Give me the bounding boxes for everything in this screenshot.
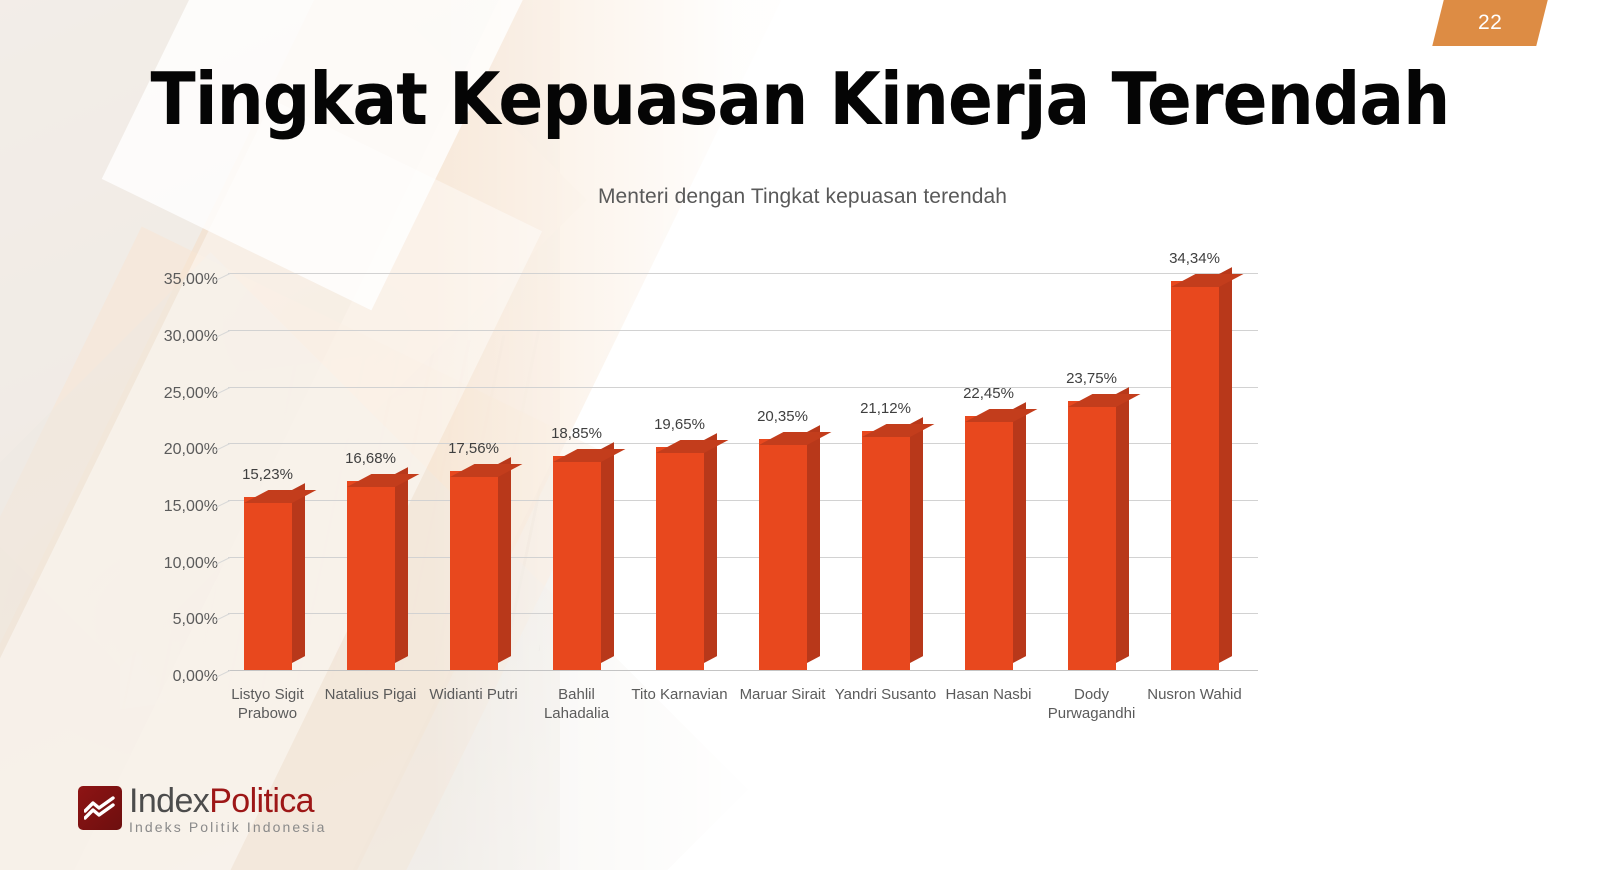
- y-axis-tick-label: 10,00%: [164, 555, 218, 573]
- y-axis-tick-labels: 0,00%5,00%10,00%15,00%20,00%25,00%30,00%…: [122, 245, 218, 670]
- bar-top-face: [347, 474, 419, 487]
- bar-front-face: [965, 416, 1013, 670]
- bar-top-face: [1171, 274, 1243, 287]
- bar-top-face: [1068, 394, 1140, 407]
- bar-body: [450, 471, 498, 670]
- bar-side-face: [1219, 267, 1232, 663]
- bar-side-face: [807, 425, 820, 663]
- page-number-badge: 22: [1432, 0, 1547, 46]
- chart-plot-area: 0,00%5,00%10,00%15,00%20,00%25,00%30,00%…: [228, 245, 1258, 670]
- bar-chart: Menteri dengan Tingkat kepuasan terendah…: [120, 185, 1300, 755]
- y-axis-tick-label: 20,00%: [164, 441, 218, 459]
- bar-front-face: [244, 497, 292, 670]
- bar-body: [553, 456, 601, 670]
- x-axis-category-label: Listyo Sigit Prabowo: [216, 685, 319, 723]
- bar-front-face: [450, 471, 498, 670]
- chart-bar[interactable]: 20,35%: [759, 245, 807, 670]
- x-axis-category-label: Bahlil Lahadalia: [525, 685, 628, 723]
- bar-value-label: 17,56%: [448, 440, 499, 457]
- bar-body: [1171, 281, 1219, 670]
- bar-top-face: [862, 424, 934, 437]
- x-axis-category-label: Hasan Nasbi: [937, 685, 1040, 704]
- chart-bar[interactable]: 18,85%: [553, 245, 601, 670]
- chart-bar[interactable]: 22,45%: [965, 245, 1013, 670]
- bar-body: [862, 431, 910, 670]
- bar-side-face: [704, 433, 717, 663]
- y-axis-tick-label: 25,00%: [164, 385, 218, 403]
- bar-top-face: [759, 432, 831, 445]
- bar-value-label: 19,65%: [654, 416, 705, 433]
- logo-text: IndexPolitica Indeks Politik Indonesia: [129, 784, 327, 835]
- y-axis-tick-label: 35,00%: [164, 271, 218, 289]
- bar-body: [965, 416, 1013, 670]
- bar-side-face: [910, 417, 923, 663]
- chart-bar[interactable]: 21,12%: [862, 245, 910, 670]
- bar-top-face: [553, 449, 625, 462]
- y-axis-tick-label: 30,00%: [164, 328, 218, 346]
- y-axis-tick-label: 0,00%: [173, 668, 218, 686]
- bar-value-label: 21,12%: [860, 400, 911, 417]
- y-axis-tick-label: 15,00%: [164, 498, 218, 516]
- chart-bar[interactable]: 19,65%: [656, 245, 704, 670]
- chart-zigzag-icon: [78, 786, 122, 830]
- x-axis-category-label: Widianti Putri: [422, 685, 525, 704]
- bar-body: [347, 481, 395, 670]
- logo-word-index: Index: [129, 782, 209, 820]
- logo-wordmark: IndexPolitica: [129, 784, 327, 818]
- bar-value-label: 22,45%: [963, 385, 1014, 402]
- x-axis-category-label: Nusron Wahid: [1143, 685, 1246, 704]
- bar-side-face: [601, 442, 614, 663]
- bar-side-face: [1116, 387, 1129, 663]
- page-title: Tingkat Kepuasan Kinerja Terendah: [64, 55, 1536, 143]
- bar-top-face: [450, 464, 522, 477]
- bar-value-label: 15,23%: [242, 466, 293, 483]
- bar-front-face: [347, 481, 395, 670]
- x-axis-category-label: Dody Purwagandhi: [1040, 685, 1143, 723]
- bar-side-face: [498, 457, 511, 663]
- y-axis-tick-label: 5,00%: [173, 611, 218, 629]
- bar-side-face: [1013, 402, 1026, 663]
- brand-logo: IndexPolitica Indeks Politik Indonesia: [78, 784, 327, 835]
- chart-title: Menteri dengan Tingkat kepuasan terendah: [120, 185, 1300, 209]
- gridline: [228, 670, 1258, 671]
- bar-value-label: 23,75%: [1066, 370, 1117, 387]
- slide-canvas: 22 Tingkat Kepuasan Kinerja Terendah Men…: [0, 0, 1600, 870]
- bar-body: [759, 439, 807, 670]
- x-axis-category-label: Tito Karnavian: [628, 685, 731, 704]
- bar-top-face: [656, 440, 728, 453]
- bar-value-label: 18,85%: [551, 425, 602, 442]
- bar-side-face: [292, 483, 305, 663]
- bar-front-face: [656, 447, 704, 670]
- x-axis-category-label: Maruar Sirait: [731, 685, 834, 704]
- chart-bar[interactable]: 23,75%: [1068, 245, 1116, 670]
- bar-front-face: [759, 439, 807, 670]
- bar-value-label: 20,35%: [757, 408, 808, 425]
- bar-top-face: [244, 490, 316, 503]
- chart-bar[interactable]: 34,34%: [1171, 245, 1219, 670]
- bar-body: [1068, 401, 1116, 670]
- bar-top-face: [965, 409, 1037, 422]
- bar-front-face: [1171, 281, 1219, 670]
- bar-front-face: [862, 431, 910, 670]
- x-axis-category-label: Natalius Pigai: [319, 685, 422, 704]
- bar-body: [656, 447, 704, 670]
- logo-tagline: Indeks Politik Indonesia: [129, 819, 327, 835]
- chart-bar[interactable]: 16,68%: [347, 245, 395, 670]
- chart-bars: 15,23%Listyo Sigit Prabowo16,68%Natalius…: [228, 245, 1258, 670]
- bar-body: [244, 497, 292, 670]
- x-axis-category-label: Yandri Susanto: [834, 685, 937, 704]
- chart-bar[interactable]: 15,23%: [244, 245, 292, 670]
- logo-word-politica: Politica: [209, 782, 314, 820]
- bar-front-face: [553, 456, 601, 670]
- bar-value-label: 16,68%: [345, 450, 396, 467]
- bar-value-label: 34,34%: [1169, 250, 1220, 267]
- chart-bar[interactable]: 17,56%: [450, 245, 498, 670]
- bar-side-face: [395, 467, 408, 663]
- page-number-text: 22: [1478, 11, 1502, 35]
- bar-front-face: [1068, 401, 1116, 670]
